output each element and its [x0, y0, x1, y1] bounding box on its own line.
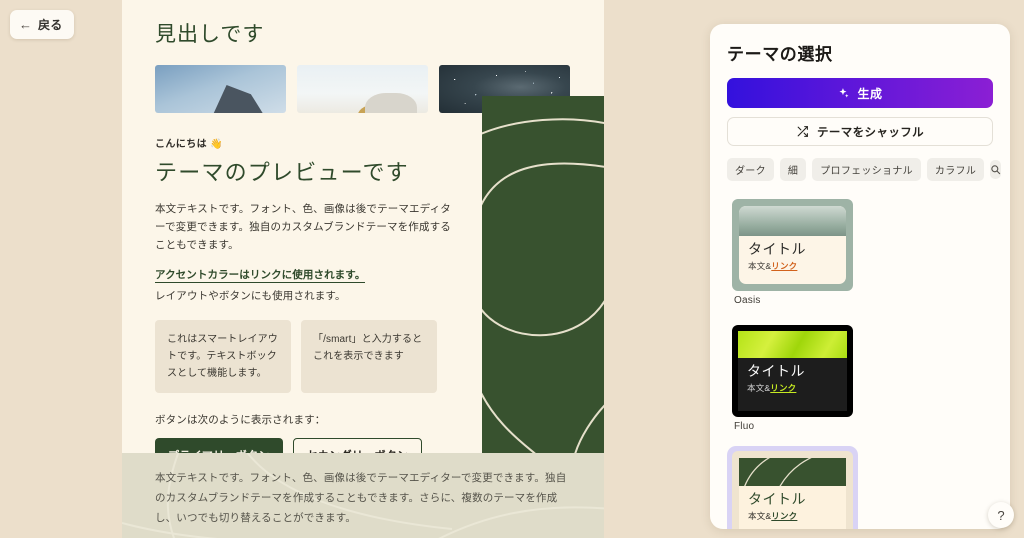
panel-title: テーマの選択 [727, 40, 993, 65]
theme-sample-body: 本文&リンク [748, 510, 837, 522]
theme-card-grid: タイトル 本文&リンク Oasis タイトル 本文&リンク [727, 194, 993, 529]
theme-sample-link: リンク [770, 383, 796, 393]
back-button[interactable]: ← 戻る [10, 10, 74, 39]
theme-sample-link: リンク [771, 261, 797, 271]
document-body: こんにちは 👋 テーマのプレビューです 本文テキストです。フォント、色、画像は後… [122, 113, 437, 472]
document-paragraph: 本文テキストです。フォント、色、画像は後でテーマエディターで変更できます。独自の… [155, 200, 453, 254]
theme-card-label: Oasis [732, 295, 853, 306]
filter-chip-row: ダーク 細 プロフェッショナル カラフル [727, 158, 993, 181]
theme-sample-link: リンク [771, 511, 797, 521]
app-root: ← 戻る 見出しです こんにちは 👋 テーマのプレビューです 本文テキストです。… [0, 0, 1024, 538]
filter-chip-colorful[interactable]: カラフル [927, 158, 984, 181]
button-note-text: ボタンは次のように表示されます： [155, 412, 437, 427]
theme-thumbnail: タイトル 本文&リンク [732, 325, 853, 417]
document-title: テーマのプレビューです [155, 159, 437, 187]
greeting-text: こんにちは 👋 [155, 135, 437, 150]
document-heading: 見出しです [122, 0, 604, 48]
theme-thumb-image [739, 206, 846, 236]
smart-layout-box[interactable]: これはスマートレイアウトです。テキストボックスとして機能します。 [155, 320, 291, 393]
theme-card-label: Fluo [732, 421, 853, 432]
back-button-label: 戻る [38, 16, 63, 33]
theme-card-oasis[interactable]: タイトル 本文&リンク Oasis [727, 194, 858, 309]
generate-button-label: 生成 [857, 85, 882, 102]
theme-sample-title: タイトル [748, 492, 837, 507]
theme-selection-panel: テーマの選択 生成 テーマをシャッフル ダーク 細 プロフェッショナル カラフル [710, 24, 1010, 529]
arrow-left-icon: ← [19, 18, 32, 31]
theme-sample-title: タイトル [748, 242, 837, 257]
green-decorative-panel [482, 96, 604, 453]
smart-layout-box[interactable]: 「/smart」と入力するとこれを表示できます [301, 320, 437, 393]
theme-card-finesse[interactable]: タイトル 本文&リンク ✓ Finesse [727, 446, 858, 529]
search-chip-button[interactable] [990, 160, 1001, 179]
filter-chip-professional[interactable]: プロフェッショナル [812, 158, 921, 181]
document-canvas[interactable]: 見出しです こんにちは 👋 テーマのプレビューです 本文テキストです。フォント、… [122, 0, 604, 538]
theme-thumbnail: タイトル 本文&リンク [732, 451, 853, 529]
search-icon [990, 164, 1001, 175]
accent-color-link[interactable]: アクセントカラーはリンクに使用されます。 [155, 267, 365, 283]
footer-band: 本文テキストです。フォント、色、画像は後でテーマエディターで変更できます。独自の… [122, 453, 604, 538]
theme-sample-body: 本文&リンク [748, 260, 837, 272]
accent-sub-text: レイアウトやボタンにも使用されます。 [155, 288, 437, 303]
theme-thumb-image [738, 331, 847, 358]
gallery-image-mountain [155, 65, 286, 113]
shuffle-button-label: テーマをシャッフル [817, 124, 924, 140]
gallery-image-landscape [297, 65, 428, 113]
theme-thumb-curves [739, 458, 846, 486]
sparkles-icon [837, 87, 850, 100]
footer-text: 本文テキストです。フォント、色、画像は後でテーマエディターで変更できます。独自の… [122, 453, 572, 529]
help-button[interactable]: ? [988, 502, 1014, 528]
shuffle-icon [796, 125, 809, 138]
theme-thumbnail: タイトル 本文&リンク [732, 199, 853, 291]
theme-sample-title: タイトル [747, 364, 838, 379]
theme-sample-body: 本文&リンク [747, 382, 838, 394]
shuffle-button[interactable]: テーマをシャッフル [727, 117, 993, 146]
theme-thumb-image [739, 458, 846, 486]
green-panel-curves [482, 96, 604, 453]
theme-card-fluo[interactable]: タイトル 本文&リンク Fluo [727, 320, 858, 435]
generate-button[interactable]: 生成 [727, 78, 993, 108]
filter-chip-dark[interactable]: ダーク [727, 158, 774, 181]
filter-chip-thin[interactable]: 細 [780, 158, 806, 181]
smart-layout-row: これはスマートレイアウトです。テキストボックスとして機能します。 「/smart… [155, 320, 437, 393]
